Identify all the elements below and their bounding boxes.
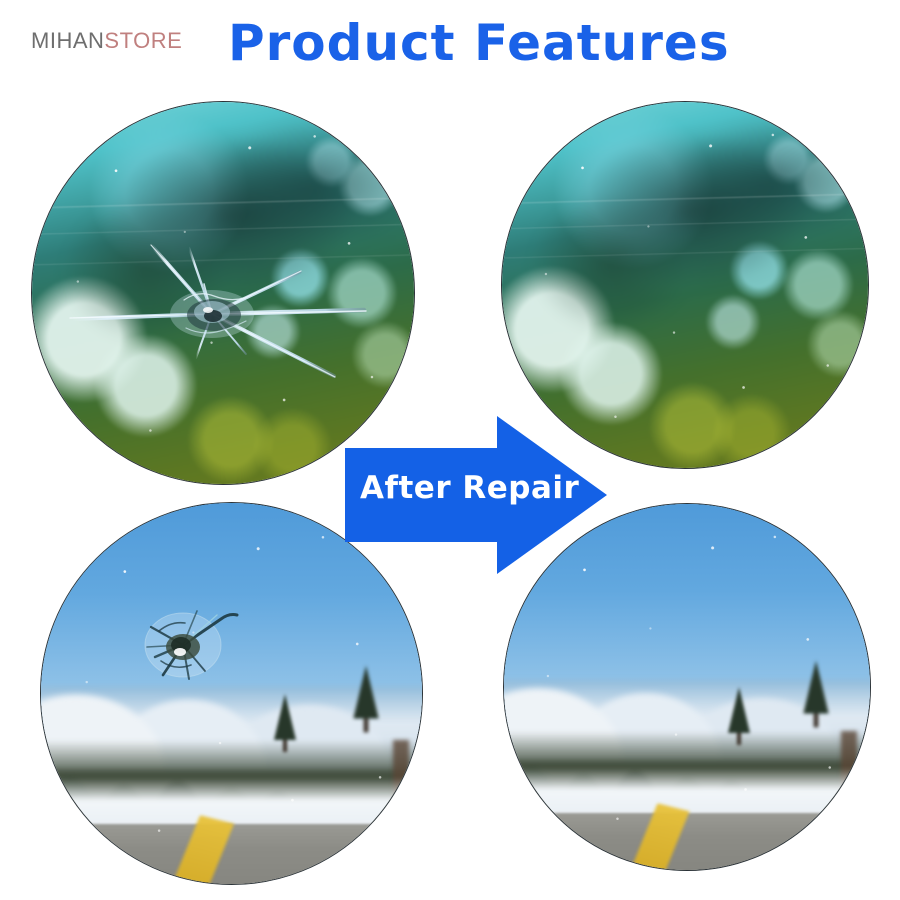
brand-logo-part2: STORE xyxy=(104,28,182,53)
panel-top-right-after xyxy=(501,101,869,469)
brand-logo-part1: MIHAN xyxy=(31,28,104,53)
brand-logo: MIHANSTORE xyxy=(31,28,182,54)
arrow-label: After Repair xyxy=(360,470,570,506)
wiper-streaks xyxy=(501,101,869,469)
page-title: Product Features xyxy=(228,14,730,72)
product-feature-graphic: MIHANSTORE Product Features xyxy=(0,0,900,900)
